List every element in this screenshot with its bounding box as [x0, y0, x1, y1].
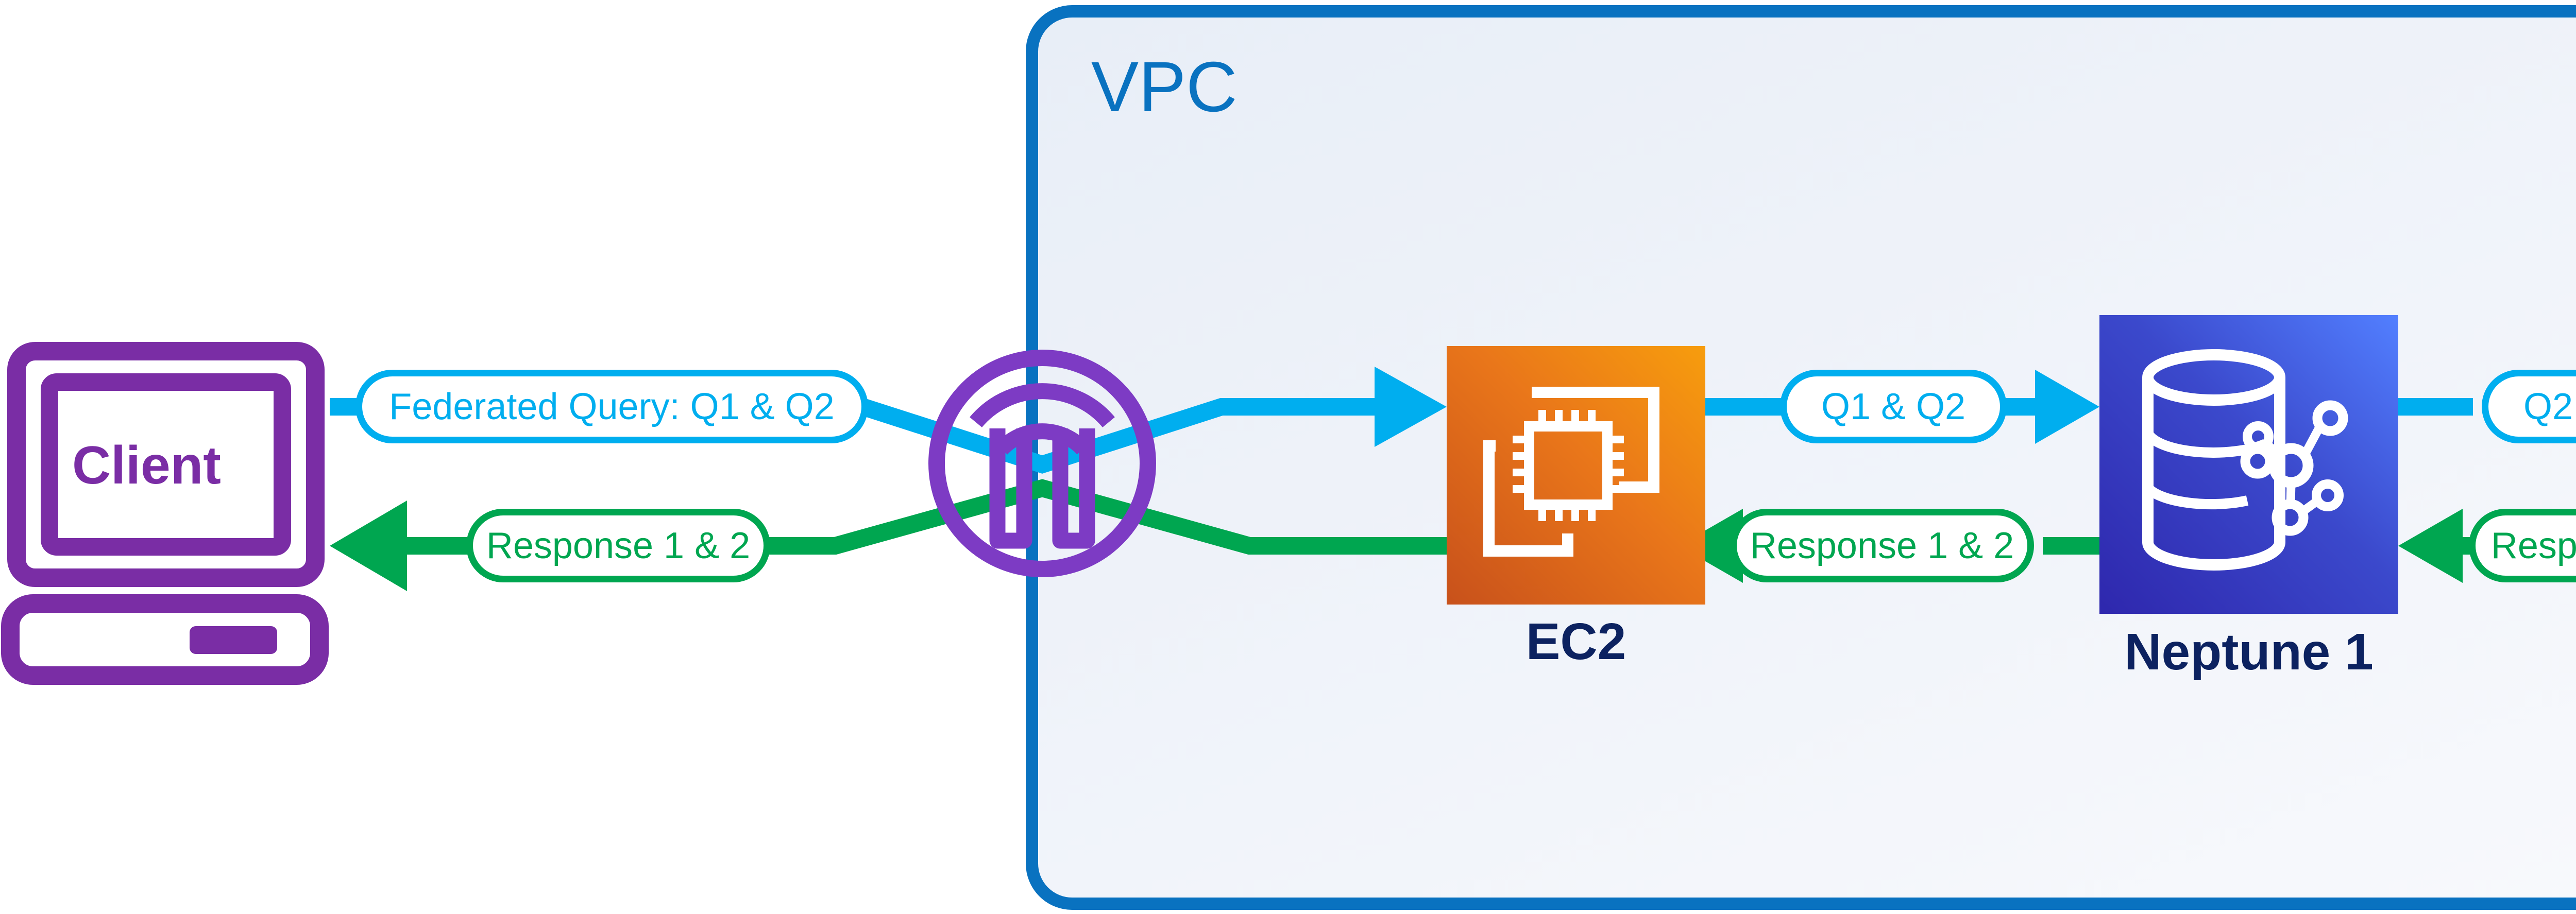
client-label: Client	[72, 439, 221, 492]
architecture-diagram-svg	[0, 0, 2576, 914]
diagram-canvas: VPC Client Federated Query: Q1 & Q2 Resp…	[0, 0, 2576, 914]
edge-label-response-2: Response 2	[2469, 509, 2576, 582]
vpc-title: VPC	[1091, 51, 1238, 123]
edge-label-federated-query: Federated Query: Q1 & Q2	[355, 370, 868, 443]
ec2-instance-icon	[1447, 346, 1705, 605]
client-monitor-icon	[10, 351, 319, 676]
ec2-caption: EC2	[1447, 616, 1705, 667]
edge-label-response-1-and-2-left: Response 1 & 2	[466, 509, 770, 582]
edge-label-q1-and-q2: Q1 & Q2	[1780, 370, 2007, 443]
neptune-graph-database-icon-1	[2099, 315, 2398, 614]
neptune1-caption: Neptune 1	[2099, 626, 2398, 678]
edge-label-response-1-and-2-mid: Response 1 & 2	[1730, 509, 2034, 582]
edge-label-q2: Q2	[2482, 370, 2576, 443]
